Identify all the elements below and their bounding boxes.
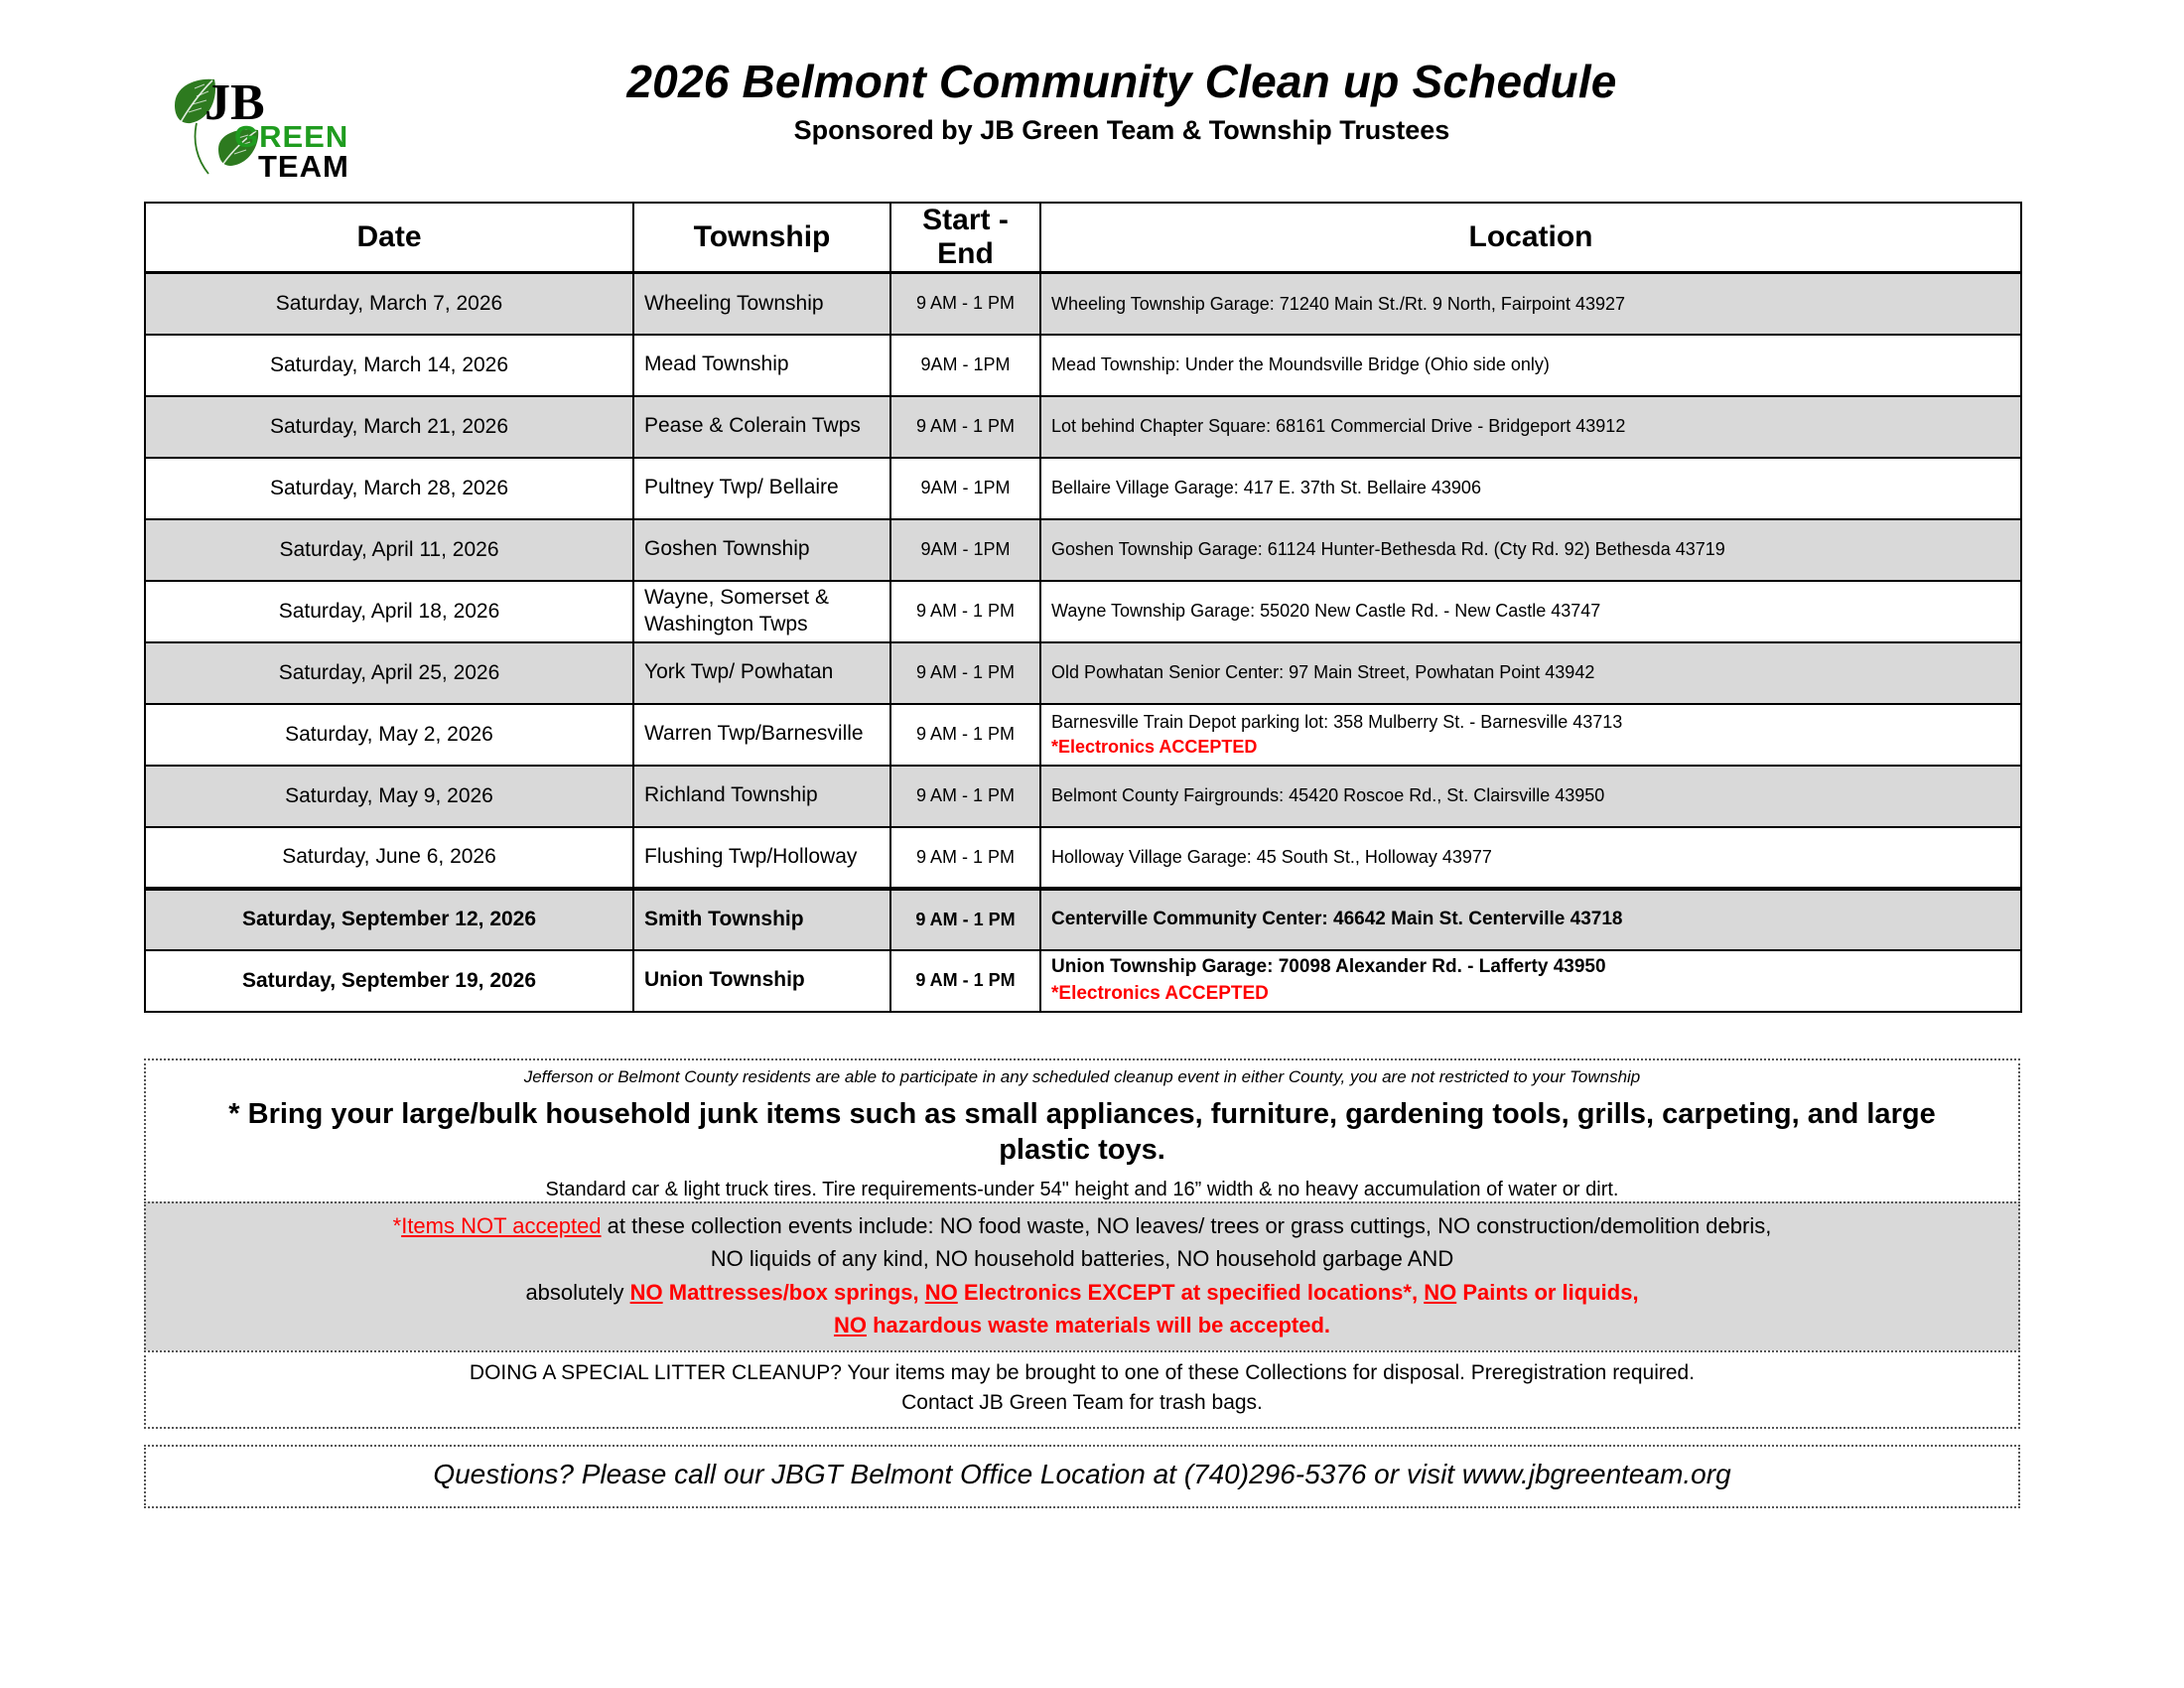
tire-requirements-note: Standard car & light truck tires. Tire r… bbox=[160, 1177, 2004, 1202]
cell-time: 9 AM - 1 PM bbox=[890, 950, 1040, 1012]
cell-time: 9 AM - 1 PM bbox=[890, 827, 1040, 889]
line3-seg-1: Mattresses/box springs, bbox=[663, 1280, 925, 1305]
cell-time: 9 AM - 1 PM bbox=[890, 581, 1040, 642]
cell-time: 9 AM - 1 PM bbox=[890, 396, 1040, 458]
cell-location: Wheeling Township Garage: 71240 Main St.… bbox=[1040, 273, 2021, 335]
cell-date: Saturday, March 14, 2026 bbox=[145, 335, 633, 396]
cell-township: Wayne, Somerset & Washington Twps bbox=[633, 581, 890, 642]
cell-date: Saturday, May 2, 2026 bbox=[145, 704, 633, 766]
table-row: Saturday, September 19, 2026Union Townsh… bbox=[145, 950, 2021, 1012]
electronics-accepted-note: *Electronics ACCEPTED bbox=[1051, 735, 2010, 759]
not-accepted-line-1: *Items NOT accepted at these collection … bbox=[160, 1209, 2004, 1242]
location-text: Belmont County Fairgrounds: 45420 Roscoe… bbox=[1051, 785, 1604, 805]
cell-location: Belmont County Fairgrounds: 45420 Roscoe… bbox=[1040, 766, 2021, 827]
line3-seg-3: Paints or liquids, bbox=[1456, 1280, 1638, 1305]
cell-township: Warren Twp/Barnesville bbox=[633, 704, 890, 766]
cell-location: Barnesville Train Depot parking lot: 358… bbox=[1040, 704, 2021, 766]
page-header: JB GREEN TEAM 2026 Belmont Community Cle… bbox=[0, 0, 2184, 129]
county-participation-note: Jefferson or Belmont County residents ar… bbox=[160, 1066, 2004, 1088]
cell-date: Saturday, September 19, 2026 bbox=[145, 950, 633, 1012]
cell-township: Richland Township bbox=[633, 766, 890, 827]
items-not-accepted-block: *Items NOT accepted at these collection … bbox=[144, 1201, 2020, 1352]
cell-time: 9AM - 1PM bbox=[890, 519, 1040, 581]
line3-seg-2: Electronics EXCEPT at specified location… bbox=[958, 1280, 1424, 1305]
cell-date: Saturday, May 9, 2026 bbox=[145, 766, 633, 827]
line3-prefix: absolutely bbox=[525, 1280, 629, 1305]
location-text: Centerville Community Center: 46642 Main… bbox=[1051, 909, 1623, 929]
table-row: Saturday, May 2, 2026Warren Twp/Barnesvi… bbox=[145, 704, 2021, 766]
table-row: Saturday, April 18, 2026Wayne, Somerset … bbox=[145, 581, 2021, 642]
cell-township: Pease & Colerain Twps bbox=[633, 396, 890, 458]
cell-township: Pultney Twp/ Bellaire bbox=[633, 458, 890, 519]
location-text: Wayne Township Garage: 55020 New Castle … bbox=[1051, 601, 1600, 621]
cell-township: Flushing Twp/Holloway bbox=[633, 827, 890, 889]
schedule-table-body: Saturday, March 7, 2026Wheeling Township… bbox=[145, 273, 2021, 1012]
column-header-date: Date bbox=[145, 203, 633, 273]
cell-location: Old Powhatan Senior Center: 97 Main Stre… bbox=[1040, 642, 2021, 704]
cell-location: Goshen Township Garage: 61124 Hunter-Bet… bbox=[1040, 519, 2021, 581]
line3-no-1: NO bbox=[630, 1280, 663, 1305]
location-text: Lot behind Chapter Square: 68161 Commerc… bbox=[1051, 416, 1625, 436]
jb-green-team-logo: JB GREEN TEAM bbox=[167, 68, 405, 182]
table-row: Saturday, March 28, 2026Pultney Twp/ Bel… bbox=[145, 458, 2021, 519]
cell-location: Wayne Township Garage: 55020 New Castle … bbox=[1040, 581, 2021, 642]
cell-time: 9AM - 1PM bbox=[890, 335, 1040, 396]
table-row: Saturday, March 7, 2026Wheeling Township… bbox=[145, 273, 2021, 335]
location-text: Barnesville Train Depot parking lot: 358… bbox=[1051, 712, 1622, 732]
not-accepted-line-1-rest: at these collection events include: NO f… bbox=[602, 1213, 1772, 1238]
cell-date: Saturday, March 7, 2026 bbox=[145, 273, 633, 335]
table-row: Saturday, September 12, 2026Smith Townsh… bbox=[145, 889, 2021, 950]
location-text: Wheeling Township Garage: 71240 Main St.… bbox=[1051, 294, 1625, 314]
flyer-page: JB GREEN TEAM 2026 Belmont Community Cle… bbox=[0, 0, 2184, 1688]
not-accepted-heading: Items NOT accepted bbox=[401, 1213, 601, 1238]
notes-bring-block: Jefferson or Belmont County residents ar… bbox=[144, 1058, 2020, 1212]
table-row: Saturday, May 9, 2026Richland Township9 … bbox=[145, 766, 2021, 827]
cell-date: Saturday, March 28, 2026 bbox=[145, 458, 633, 519]
questions-contact-block: Questions? Please call our JBGT Belmont … bbox=[144, 1445, 2020, 1508]
logo-text-team: TEAM bbox=[258, 149, 349, 182]
column-header-township: Township bbox=[633, 203, 890, 273]
cell-time: 9 AM - 1 PM bbox=[890, 766, 1040, 827]
cell-date: Saturday, June 6, 2026 bbox=[145, 827, 633, 889]
location-text: Goshen Township Garage: 61124 Hunter-Bet… bbox=[1051, 539, 1725, 559]
line4-rest: hazardous waste materials will be accept… bbox=[867, 1313, 1330, 1337]
location-text: Bellaire Village Garage: 417 E. 37th St.… bbox=[1051, 478, 1481, 497]
not-accepted-line-4: NO hazardous waste materials will be acc… bbox=[160, 1309, 2004, 1341]
cell-location: Lot behind Chapter Square: 68161 Commerc… bbox=[1040, 396, 2021, 458]
cell-date: Saturday, April 25, 2026 bbox=[145, 642, 633, 704]
location-text: Old Powhatan Senior Center: 97 Main Stre… bbox=[1051, 662, 1594, 682]
cell-time: 9 AM - 1 PM bbox=[890, 889, 1040, 950]
location-text: Mead Township: Under the Moundsville Bri… bbox=[1051, 354, 1550, 374]
litter-cleanup-line-2: Contact JB Green Team for trash bags. bbox=[160, 1388, 2004, 1418]
litter-cleanup-line-1: DOING A SPECIAL LITTER CLEANUP? Your ite… bbox=[160, 1358, 2004, 1388]
cell-township: Smith Township bbox=[633, 889, 890, 950]
column-header-time: Start - End bbox=[890, 203, 1040, 273]
table-row: Saturday, April 25, 2026York Twp/ Powhat… bbox=[145, 642, 2021, 704]
column-header-location: Location bbox=[1040, 203, 2021, 273]
cell-time: 9 AM - 1 PM bbox=[890, 642, 1040, 704]
questions-contact-line: Questions? Please call our JBGT Belmont … bbox=[160, 1453, 2004, 1498]
bring-items-note: * Bring your large/bulk household junk i… bbox=[160, 1096, 2004, 1169]
not-accepted-line-3: absolutely NO Mattresses/box springs, NO… bbox=[160, 1276, 2004, 1309]
cell-date: Saturday, April 11, 2026 bbox=[145, 519, 633, 581]
cell-location: Centerville Community Center: 46642 Main… bbox=[1040, 889, 2021, 950]
cell-date: Saturday, September 12, 2026 bbox=[145, 889, 633, 950]
cell-township: Union Township bbox=[633, 950, 890, 1012]
table-row: Saturday, June 6, 2026Flushing Twp/Hollo… bbox=[145, 827, 2021, 889]
electronics-accepted-note: *Electronics ACCEPTED bbox=[1051, 981, 2010, 1007]
line4-no: NO bbox=[834, 1313, 867, 1337]
schedule-table: Date Township Start - End Location Satur… bbox=[144, 202, 2022, 1013]
schedule-table-wrap: Date Township Start - End Location Satur… bbox=[144, 202, 2020, 1013]
line3-no-3: NO bbox=[1424, 1280, 1456, 1305]
cell-location: Bellaire Village Garage: 417 E. 37th St.… bbox=[1040, 458, 2021, 519]
location-text: Union Township Garage: 70098 Alexander R… bbox=[1051, 956, 1606, 977]
special-litter-cleanup-block: DOING A SPECIAL LITTER CLEANUP? Your ite… bbox=[144, 1350, 2020, 1429]
cell-time: 9 AM - 1 PM bbox=[890, 273, 1040, 335]
table-row: Saturday, April 11, 2026Goshen Township9… bbox=[145, 519, 2021, 581]
cell-time: 9 AM - 1 PM bbox=[890, 704, 1040, 766]
cell-township: Goshen Township bbox=[633, 519, 890, 581]
table-row: Saturday, March 14, 2026Mead Township9AM… bbox=[145, 335, 2021, 396]
not-accepted-line-2: NO liquids of any kind, NO household bat… bbox=[160, 1242, 2004, 1275]
cell-location: Holloway Village Garage: 45 South St., H… bbox=[1040, 827, 2021, 889]
cell-township: Wheeling Township bbox=[633, 273, 890, 335]
location-text: Holloway Village Garage: 45 South St., H… bbox=[1051, 847, 1492, 867]
cell-location: Union Township Garage: 70098 Alexander R… bbox=[1040, 950, 2021, 1012]
table-row: Saturday, March 21, 2026Pease & Colerain… bbox=[145, 396, 2021, 458]
cell-date: Saturday, April 18, 2026 bbox=[145, 581, 633, 642]
cell-location: Mead Township: Under the Moundsville Bri… bbox=[1040, 335, 2021, 396]
cell-time: 9AM - 1PM bbox=[890, 458, 1040, 519]
cell-township: York Twp/ Powhatan bbox=[633, 642, 890, 704]
cell-township: Mead Township bbox=[633, 335, 890, 396]
not-accepted-star: * bbox=[393, 1213, 402, 1238]
cell-date: Saturday, March 21, 2026 bbox=[145, 396, 633, 458]
table-header-row: Date Township Start - End Location bbox=[145, 203, 2021, 273]
line3-no-2: NO bbox=[925, 1280, 958, 1305]
